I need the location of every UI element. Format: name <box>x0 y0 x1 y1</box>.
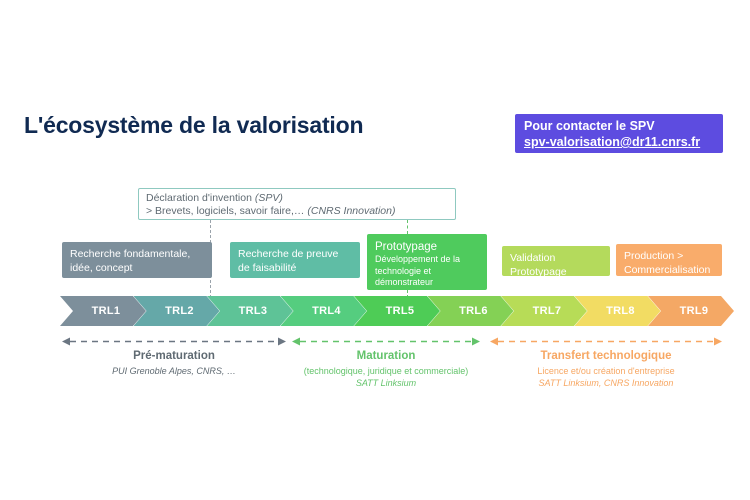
connector-dashed-right <box>407 220 408 234</box>
trl-label: TRL4 <box>312 305 341 317</box>
contact-email-link[interactable]: spv-valorisation@dr11.cnrs.fr <box>524 134 714 150</box>
trl-chevron-trl1: TRL1 <box>60 296 146 326</box>
trl-label: TRL6 <box>459 305 488 317</box>
double-arrow-icon <box>490 336 722 347</box>
declaration-line-1-main: Déclaration d'invention <box>146 192 255 204</box>
trl-chevron-trl8: TRL8 <box>575 296 661 326</box>
trl-label: TRL7 <box>533 305 562 317</box>
stage-box-production-commercialisation: Production >Commercialisation <box>616 244 722 276</box>
phase-subtitle-1: Licence et/ou création d'entreprise <box>490 366 722 376</box>
declaration-line-2: > Brevets, logiciels, savoir faire,… (CN… <box>146 205 448 218</box>
declaration-line-2-main: > Brevets, logiciels, savoir faire,… <box>146 205 307 217</box>
phase-title: Transfert technologique <box>490 350 722 362</box>
trl-chevron-trl9: TRL9 <box>648 296 734 326</box>
declaration-line-1-emphasis: (SPV) <box>255 192 283 204</box>
stage-subtitle: Développement de la technologie et démon… <box>375 254 479 289</box>
declaration-invention-box: Déclaration d'invention (SPV) > Brevets,… <box>138 188 456 220</box>
double-arrow-icon <box>62 336 286 347</box>
contact-box[interactable]: Pour contacter le SPV spv-valorisation@d… <box>515 114 723 153</box>
stage-title-2: Prototypage industriel <box>510 266 602 277</box>
trl-label: TRL9 <box>680 305 709 317</box>
phase-title: Pré-maturation <box>62 350 286 362</box>
stage-box-recherche-preuve: Recherche de preuvede faisabilité <box>230 242 360 278</box>
stage-title: Validation <box>510 252 602 266</box>
stage-title-2: Commercialisation <box>624 264 714 277</box>
stage-title: Production > <box>624 250 714 264</box>
phase-subtitle-1: (technologique, juridique et commerciale… <box>292 366 480 376</box>
phase-title: Maturation <box>292 350 480 362</box>
stage-box-recherche-fondamentale: Recherche fondamentale,idée, concept <box>62 242 212 278</box>
trl-label: TRL8 <box>606 305 635 317</box>
diagram-canvas: L'écosystème de la valorisation Pour con… <box>0 0 750 500</box>
stage-title: Prototypage <box>375 240 479 254</box>
trl-chevron-trl5: TRL5 <box>354 296 440 326</box>
trl-chevron-trl6: TRL6 <box>428 296 514 326</box>
phase-transfert-technologique: Transfert technologiqueLicence et/ou cré… <box>490 336 722 394</box>
contact-heading: Pour contacter le SPV <box>524 119 714 134</box>
declaration-line-1: Déclaration d'invention (SPV) <box>146 192 448 205</box>
trl-label: TRL1 <box>92 305 121 317</box>
stage-title-2: idée, concept <box>70 262 204 276</box>
trl-label: TRL3 <box>239 305 268 317</box>
trl-chevron-trl7: TRL7 <box>501 296 587 326</box>
stage-title: Recherche fondamentale, <box>70 248 204 262</box>
stage-box-validation: ValidationPrototypage industriel <box>502 246 610 276</box>
trl-chevron-trl3: TRL3 <box>207 296 293 326</box>
phase-pre-maturation: Pré-maturationPUI Grenoble Alpes, CNRS, … <box>62 336 286 394</box>
phase-maturation: Maturation(technologique, juridique et c… <box>292 336 480 394</box>
trl-chevron-trl2: TRL2 <box>134 296 220 326</box>
phase-subtitle-1: PUI Grenoble Alpes, CNRS, … <box>62 366 286 376</box>
declaration-line-2-emphasis: (CNRS Innovation) <box>307 205 395 217</box>
phase-subtitle-2: SATT Linksium <box>292 378 480 388</box>
trl-chevron-trl4: TRL4 <box>281 296 367 326</box>
page-title: L'écosystème de la valorisation <box>24 112 363 139</box>
phase-subtitle-2: SATT Linksium, CNRS Innovation <box>490 378 722 388</box>
trl-label: TRL2 <box>165 305 194 317</box>
trl-label: TRL5 <box>386 305 415 317</box>
double-arrow-icon <box>292 336 480 347</box>
stage-title-2: de faisabilité <box>238 262 352 276</box>
stage-box-prototypage: PrototypageDéveloppement de la technolog… <box>367 234 487 290</box>
stage-title: Recherche de preuve <box>238 248 352 262</box>
